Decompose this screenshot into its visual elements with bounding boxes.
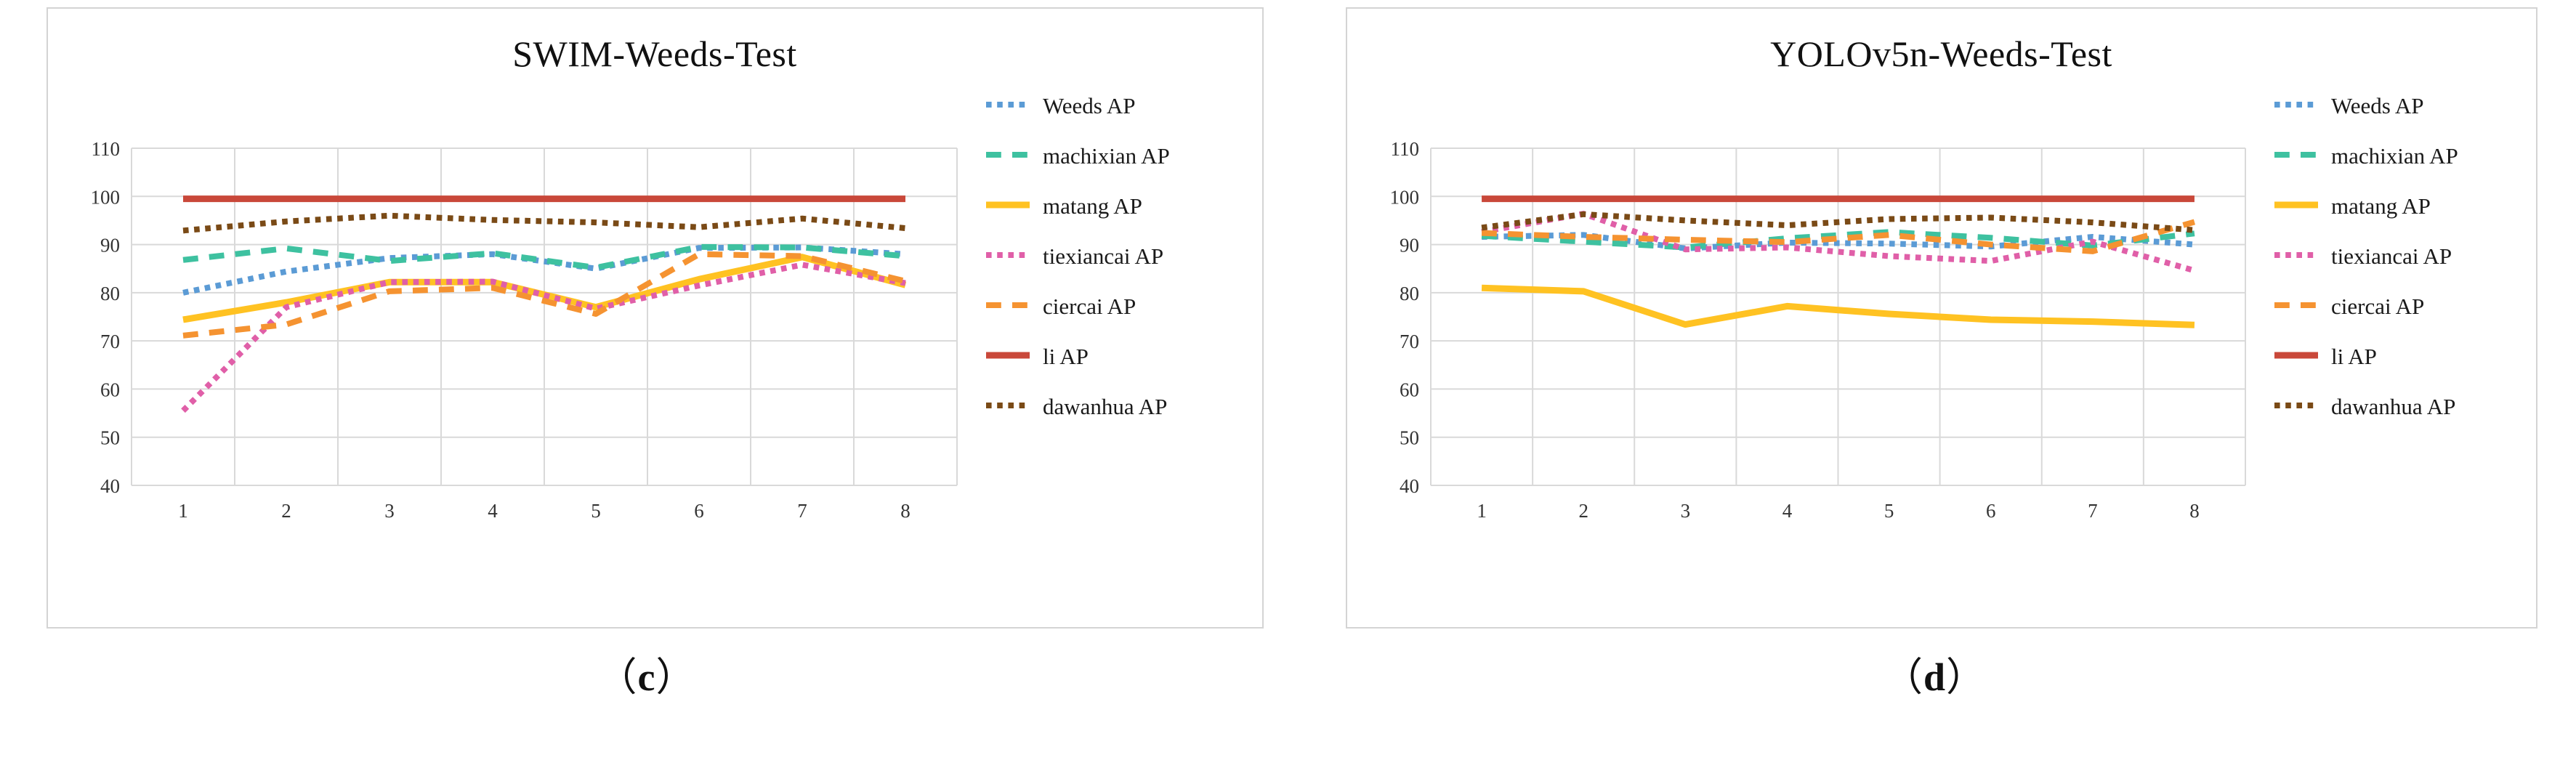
y-axis-tick-label: 60 xyxy=(1400,379,1419,400)
legend-label: machixian AP xyxy=(2331,143,2458,169)
legend-label: li AP xyxy=(2331,344,2377,369)
legend-label: ciercai AP xyxy=(2331,294,2424,319)
legend-label: li AP xyxy=(1043,344,1089,369)
caption-close-paren-c: ） xyxy=(655,655,695,699)
legend-label: tiexiancai AP xyxy=(1043,243,1163,269)
y-axis-tick-label: 100 xyxy=(1389,186,1419,208)
y-axis-tick-label: 60 xyxy=(100,379,120,400)
y-axis-tick-label: 110 xyxy=(91,138,120,160)
figure-row: SWIM-Weeds-Test 405060708090100110123456… xyxy=(0,0,2576,784)
y-axis-tick-label: 80 xyxy=(1400,283,1419,304)
x-axis-tick-label: 3 xyxy=(384,500,395,522)
x-axis-tick-label: 7 xyxy=(2088,500,2098,522)
x-axis-tick-label: 2 xyxy=(1578,500,1588,522)
x-axis-tick-label: 8 xyxy=(2189,500,2200,522)
caption-letter-c: c xyxy=(638,655,656,699)
chart-frame-c: SWIM-Weeds-Test 405060708090100110123456… xyxy=(47,7,1264,629)
x-axis-tick-label: 2 xyxy=(281,500,291,522)
y-axis-tick-label: 80 xyxy=(100,283,120,304)
caption-letter-d: d xyxy=(1923,655,1946,699)
x-axis-tick-label: 5 xyxy=(591,500,601,522)
caption-open-paren-d: （ xyxy=(1883,655,1923,699)
x-axis-tick-label: 3 xyxy=(1680,500,1690,522)
legend-label: ciercai AP xyxy=(1043,294,1136,319)
legend-label: tiexiancai AP xyxy=(2331,243,2452,269)
x-axis-tick-label: 8 xyxy=(900,500,911,522)
chart-plot-c: 40506070809010011012345678Weeds APmachix… xyxy=(48,9,1262,627)
x-axis-tick-label: 5 xyxy=(1883,500,1894,522)
legend-label: Weeds AP xyxy=(2331,93,2424,118)
y-axis-tick-label: 90 xyxy=(1400,235,1419,256)
panel-c: SWIM-Weeds-Test 405060708090100110123456… xyxy=(0,0,1293,784)
y-axis-tick-label: 40 xyxy=(1400,475,1419,497)
legend-label: matang AP xyxy=(1043,193,1142,219)
legend-label: machixian AP xyxy=(1043,143,1170,169)
caption-close-paren-d: ） xyxy=(1946,655,1986,699)
chart-plot-d: 40506070809010011012345678Weeds APmachix… xyxy=(1347,9,2536,627)
y-axis-tick-label: 70 xyxy=(1400,331,1419,352)
y-axis-tick-label: 50 xyxy=(1400,427,1419,449)
legend-label: dawanhua AP xyxy=(2331,394,2455,419)
y-axis-tick-label: 50 xyxy=(100,427,120,449)
y-axis-tick-label: 40 xyxy=(100,475,120,497)
caption-open-paren-c: （ xyxy=(598,655,638,699)
x-axis-tick-label: 4 xyxy=(488,500,498,522)
y-axis-tick-label: 90 xyxy=(100,235,120,256)
x-axis-tick-label: 4 xyxy=(1782,500,1792,522)
y-axis-tick-label: 70 xyxy=(100,331,120,352)
x-axis-tick-label: 1 xyxy=(1477,500,1487,522)
x-axis-tick-label: 7 xyxy=(797,500,807,522)
x-axis-tick-label: 6 xyxy=(1985,500,1995,522)
panel-d: YOLOv5n-Weeds-Test 405060708090100110123… xyxy=(1293,0,2576,784)
legend-label: matang AP xyxy=(2331,193,2431,219)
panel-caption-d: （d） xyxy=(1883,644,1986,702)
legend-label: Weeds AP xyxy=(1043,93,1136,118)
chart-frame-d: YOLOv5n-Weeds-Test 405060708090100110123… xyxy=(1346,7,2537,629)
x-axis-tick-label: 1 xyxy=(178,500,188,522)
y-axis-tick-label: 100 xyxy=(90,186,120,208)
legend-label: dawanhua AP xyxy=(1043,394,1167,419)
x-axis-tick-label: 6 xyxy=(694,500,704,522)
panel-caption-c: （c） xyxy=(598,644,696,702)
y-axis-tick-label: 110 xyxy=(1390,138,1419,160)
